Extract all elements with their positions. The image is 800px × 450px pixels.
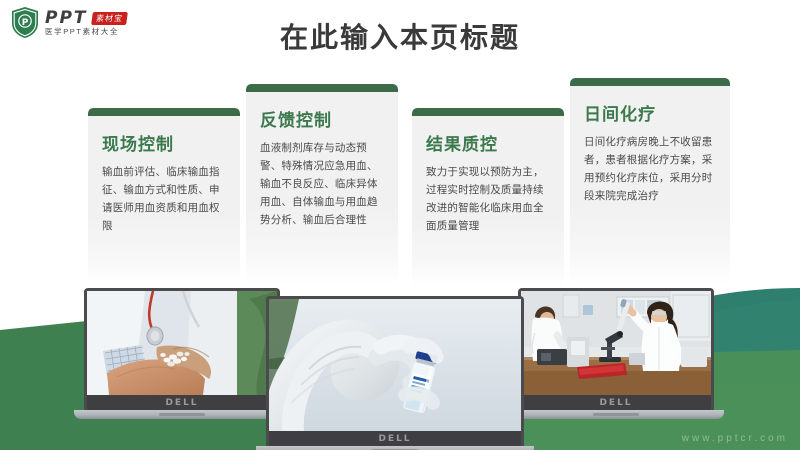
card-2-text: 血液制剂库存与动态预警、特殊情况应急用血、输血不良反应、临床异体用血、自体输血与… bbox=[260, 139, 384, 229]
logo-text-block: PPT 素材宝 医学PPT素材大全 bbox=[45, 10, 127, 36]
card-3-accent-bar bbox=[412, 108, 564, 116]
card-3-body: 结果质控 致力于实现以预防为主，过程实时控制及质量持续改进的智能化临床用血全面质… bbox=[412, 116, 564, 235]
shield-icon: P bbox=[10, 6, 40, 39]
laptop-center-screen bbox=[269, 299, 521, 431]
card-2-accent-bar bbox=[246, 84, 398, 92]
laptop-right-brand: DELL bbox=[599, 398, 632, 408]
card-4-accent-bar bbox=[570, 78, 730, 86]
info-card-2[interactable]: 反馈控制 血液制剂库存与动态预警、特殊情况应急用血、输血不良反应、临床异体用血、… bbox=[246, 84, 398, 284]
card-1-body: 现场控制 输血前评估、临床输血指征、输血方式和性质、申请医师用血资质和用血权限 bbox=[88, 116, 240, 235]
gloved-hand-holding-vaccine-vial-photo bbox=[269, 299, 521, 431]
brand-logo[interactable]: P PPT 素材宝 医学PPT素材大全 bbox=[10, 6, 127, 39]
card-1-accent-bar bbox=[88, 108, 240, 116]
card-1-text: 输血前评估、临床输血指征、输血方式和性质、申请医师用血资质和用血权限 bbox=[102, 163, 226, 235]
laptop-center-lid: DELL bbox=[266, 296, 524, 446]
card-4-text: 日间化疗病房晚上不收留患者，患者根据化疗方案，采用预约化疗床位，采用分时段来院完… bbox=[584, 133, 716, 205]
info-card-3[interactable]: 结果质控 致力于实现以预防为主，过程实时控制及质量持续改进的智能化临床用血全面质… bbox=[412, 108, 564, 286]
card-4-title: 日间化疗 bbox=[584, 100, 716, 125]
laptop-center-chin: DELL bbox=[269, 431, 521, 446]
laptop-center-base bbox=[256, 446, 534, 450]
doctor-holding-pills-photo bbox=[87, 291, 277, 395]
laptop-left-brand: DELL bbox=[165, 398, 198, 408]
slide-canvas: P PPT 素材宝 医学PPT素材大全 在此输入本页标题 现场控制 输血前评估、… bbox=[0, 0, 800, 450]
logo-subtitle: 医学PPT素材大全 bbox=[45, 28, 127, 36]
info-card-4[interactable]: 日间化疗 日间化疗病房晚上不收留患者，患者根据化疗方案，采用预约化疗床位，采用分… bbox=[570, 78, 730, 284]
logo-badge: 素材宝 bbox=[91, 12, 128, 25]
card-3-text: 致力于实现以预防为主，过程实时控制及质量持续改进的智能化临床用血全面质量管理 bbox=[426, 163, 550, 235]
laptop-left-base bbox=[74, 410, 290, 419]
laptop-center-brand: DELL bbox=[378, 434, 411, 444]
laptop-left-lid: DELL bbox=[84, 288, 280, 410]
card-1-title: 现场控制 bbox=[102, 130, 226, 155]
laptop-right-lid: DELL bbox=[518, 288, 714, 410]
logo-brand-text: PPT bbox=[45, 10, 88, 27]
logo-primary-row: PPT 素材宝 bbox=[45, 10, 127, 27]
lab-technicians-microscope-photo bbox=[521, 291, 711, 395]
laptop-right-base bbox=[508, 410, 724, 419]
site-watermark: www.pptcr.com bbox=[682, 433, 788, 444]
card-3-title: 结果质控 bbox=[426, 130, 550, 155]
info-card-1[interactable]: 现场控制 输血前评估、临床输血指征、输血方式和性质、申请医师用血资质和用血权限 bbox=[88, 108, 240, 283]
laptop-right-screen bbox=[521, 291, 711, 395]
card-2-body: 反馈控制 血液制剂库存与动态预警、特殊情况应急用血、输血不良反应、临床异体用血、… bbox=[246, 92, 398, 229]
svg-text:P: P bbox=[22, 18, 29, 28]
laptop-center[interactable]: DELL bbox=[266, 296, 524, 450]
card-4-body: 日间化疗 日间化疗病房晚上不收留患者，患者根据化疗方案，采用预约化疗床位，采用分… bbox=[570, 86, 730, 205]
laptop-left-screen bbox=[87, 291, 277, 395]
laptop-right[interactable]: DELL bbox=[518, 288, 714, 419]
laptop-left[interactable]: DELL bbox=[84, 288, 280, 419]
laptop-left-chin: DELL bbox=[87, 395, 277, 410]
laptop-right-chin: DELL bbox=[521, 395, 711, 410]
card-2-title: 反馈控制 bbox=[260, 106, 384, 131]
